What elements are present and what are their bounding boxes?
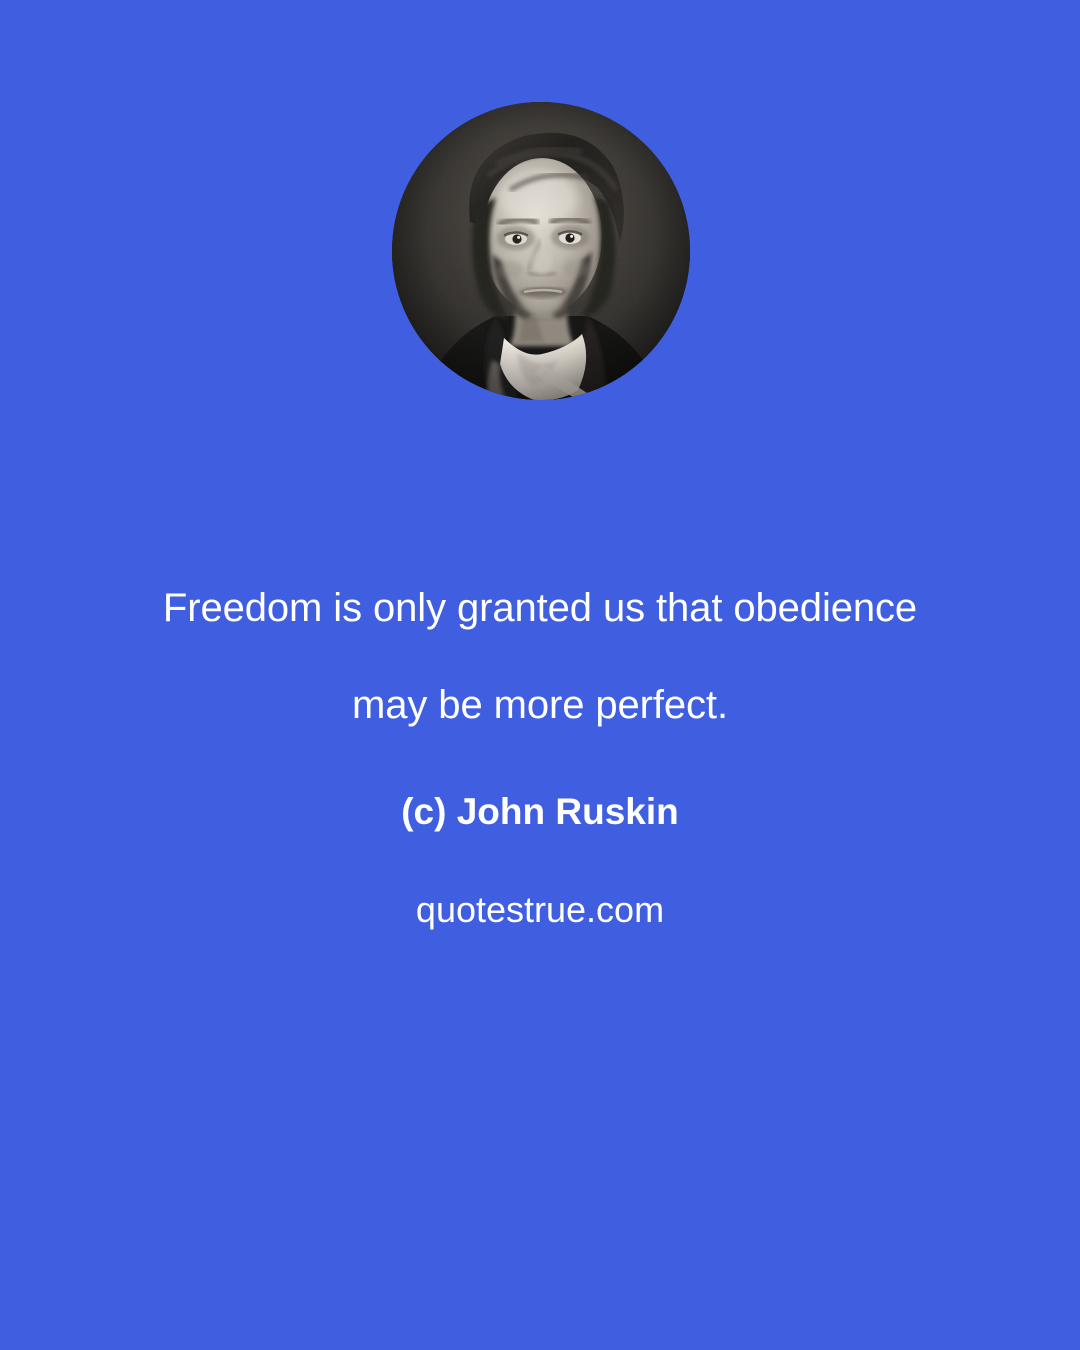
quote-attribution: (c) John Ruskin bbox=[0, 764, 1080, 860]
site-watermark: quotestrue.com bbox=[0, 862, 1080, 958]
quote-line-1: Freedom is only granted us that obedienc… bbox=[0, 560, 1080, 657]
author-portrait bbox=[392, 102, 690, 400]
john-ruskin-portrait-icon bbox=[392, 102, 690, 400]
quote-line-2: may be more perfect. bbox=[0, 657, 1080, 754]
quote-text-block: Freedom is only granted us that obedienc… bbox=[0, 560, 1080, 958]
quote-card: Freedom is only granted us that obedienc… bbox=[0, 0, 1080, 1350]
